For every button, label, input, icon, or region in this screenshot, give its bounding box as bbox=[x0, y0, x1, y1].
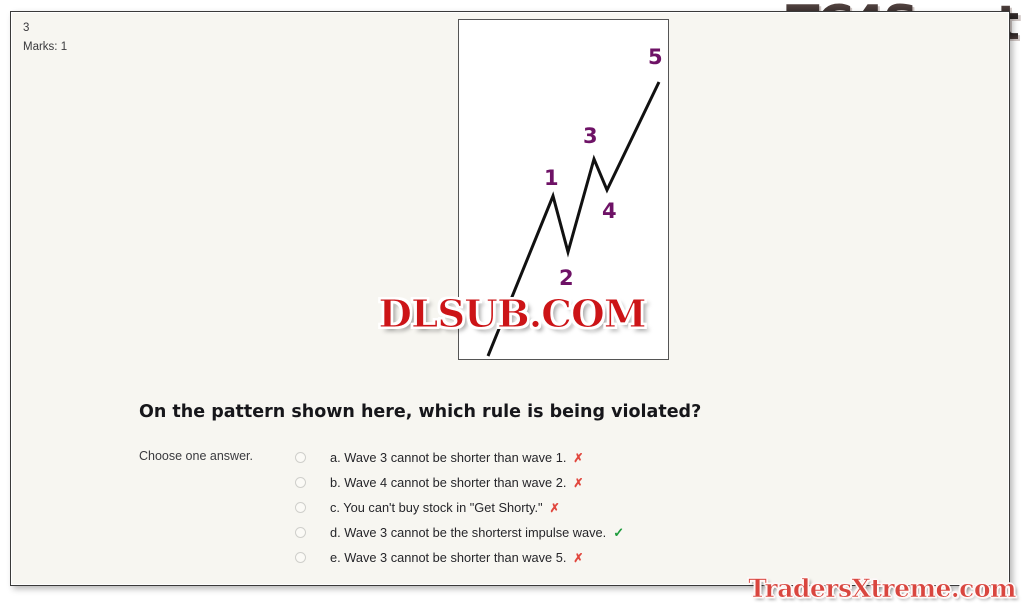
question-meta: 3 Marks: 1 bbox=[23, 19, 67, 57]
answer-mark-d: ✓ bbox=[613, 525, 624, 541]
radio-button-e[interactable] bbox=[295, 552, 306, 563]
answer-option-a[interactable]: a. Wave 3 cannot be shorter than wave 1.… bbox=[295, 445, 795, 470]
answer-mark-c: ✗ bbox=[550, 501, 560, 515]
answer-label-d: d. Wave 3 cannot be the shorterst impuls… bbox=[330, 525, 606, 540]
radio-button-a[interactable] bbox=[295, 452, 306, 463]
wave-label-4: 4 bbox=[602, 201, 617, 222]
answer-option-c[interactable]: c. You can't buy stock in "Get Shorty." … bbox=[295, 495, 795, 520]
page-title: On the pattern shown here, which rule is… bbox=[139, 402, 701, 422]
answer-option-b[interactable]: b. Wave 4 cannot be shorter than wave 2.… bbox=[295, 470, 795, 495]
answer-mark-b: ✗ bbox=[573, 476, 583, 490]
answer-label-e: e. Wave 3 cannot be shorter than wave 5. bbox=[330, 550, 566, 565]
wave-label-3: 3 bbox=[583, 126, 598, 147]
screenshot-root: TC4S.net TC4S.net 3 Marks: 1 1 2 3 4 5 D… bbox=[0, 0, 1024, 605]
answer-label-a: a. Wave 3 cannot be shorter than wave 1. bbox=[330, 450, 566, 465]
answer-mark-e: ✗ bbox=[573, 551, 583, 565]
choose-one-answer-label: Choose one answer. bbox=[139, 449, 253, 463]
dlsub-watermark: DLSUB.COM bbox=[378, 291, 645, 336]
answer-label-c: c. You can't buy stock in "Get Shorty." bbox=[330, 500, 543, 515]
quiz-panel: 3 Marks: 1 1 2 3 4 5 DLSUB.COM On the pa… bbox=[10, 11, 1010, 586]
answer-mark-a: ✗ bbox=[573, 451, 583, 465]
answer-option-e[interactable]: e. Wave 3 cannot be shorter than wave 5.… bbox=[295, 545, 795, 570]
wave-label-2: 2 bbox=[559, 268, 574, 289]
radio-button-c[interactable] bbox=[295, 502, 306, 513]
radio-button-b[interactable] bbox=[295, 477, 306, 488]
question-number: 3 bbox=[23, 19, 67, 38]
wave-label-5: 5 bbox=[648, 47, 663, 68]
answer-option-d[interactable]: d. Wave 3 cannot be the shorterst impuls… bbox=[295, 520, 795, 545]
radio-button-d[interactable] bbox=[295, 527, 306, 538]
answer-label-b: b. Wave 4 cannot be shorter than wave 2. bbox=[330, 475, 566, 490]
wave-label-1: 1 bbox=[544, 168, 559, 189]
question-marks: Marks: 1 bbox=[23, 38, 67, 57]
tradersxtreme-logo: TradersXtreme.com bbox=[748, 574, 1016, 603]
answer-list: a. Wave 3 cannot be shorter than wave 1.… bbox=[295, 445, 795, 570]
